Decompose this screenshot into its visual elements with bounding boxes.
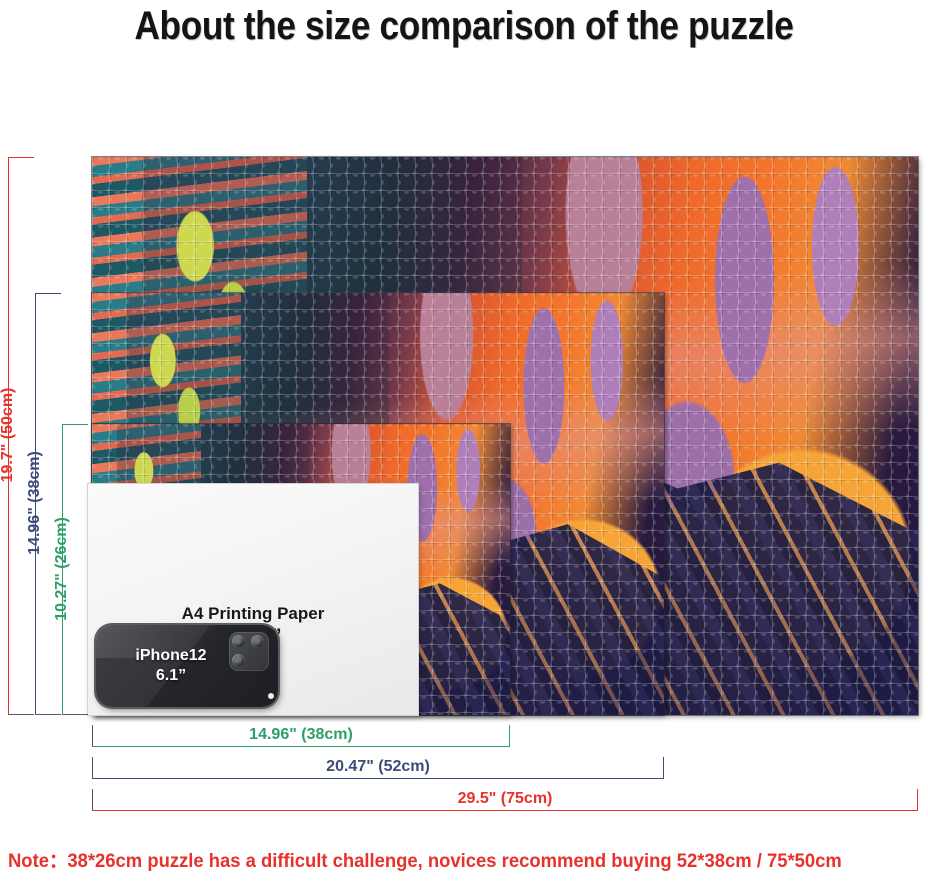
bracket-tick-top (35, 293, 61, 294)
horizontal-dimension-label: 29.5" (75cm) (92, 790, 918, 808)
note-text: Note：38*26cm puzzle has a difficult chal… (8, 846, 893, 873)
iphone-reference: iPhone12 6.1” (96, 625, 278, 707)
iphone-label: iPhone12 6.1” (100, 646, 242, 684)
iphone-label-line1: iPhone12 (100, 646, 242, 665)
vertical-dimension-label: 14.96" (38cm) (26, 451, 44, 557)
horizontal-dimension-label: 14.96" (38cm) (92, 726, 510, 744)
camera-lens-icon (251, 635, 264, 648)
bracket-tick-bottom (35, 714, 61, 715)
camera-flash-icon (268, 693, 274, 699)
horizontal-dimension-38cm: 14.96" (38cm) (92, 715, 510, 747)
vertical-dimension-label: 10.27" (26cm) (53, 517, 71, 623)
bracket-stem (92, 810, 918, 811)
bracket-tick-bottom (8, 714, 34, 715)
bracket-tick-bottom (62, 714, 88, 715)
page-title: About the size comparison of the puzzle (56, 0, 873, 52)
horizontal-dimension-52cm: 20.47" (52cm) (92, 747, 664, 779)
bracket-tick-top (62, 424, 88, 425)
horizontal-dimension-label: 20.47" (52cm) (92, 758, 664, 776)
a4-paper-label-line1: A4 Printing Paper (88, 604, 418, 625)
vertical-dimension-label: 19.7" (50cm) (0, 388, 17, 485)
iphone-label-line2: 6.1” (100, 666, 242, 685)
horizontal-dimension-75cm: 29.5" (75cm) (92, 779, 918, 811)
bracket-tick-top (8, 157, 34, 158)
